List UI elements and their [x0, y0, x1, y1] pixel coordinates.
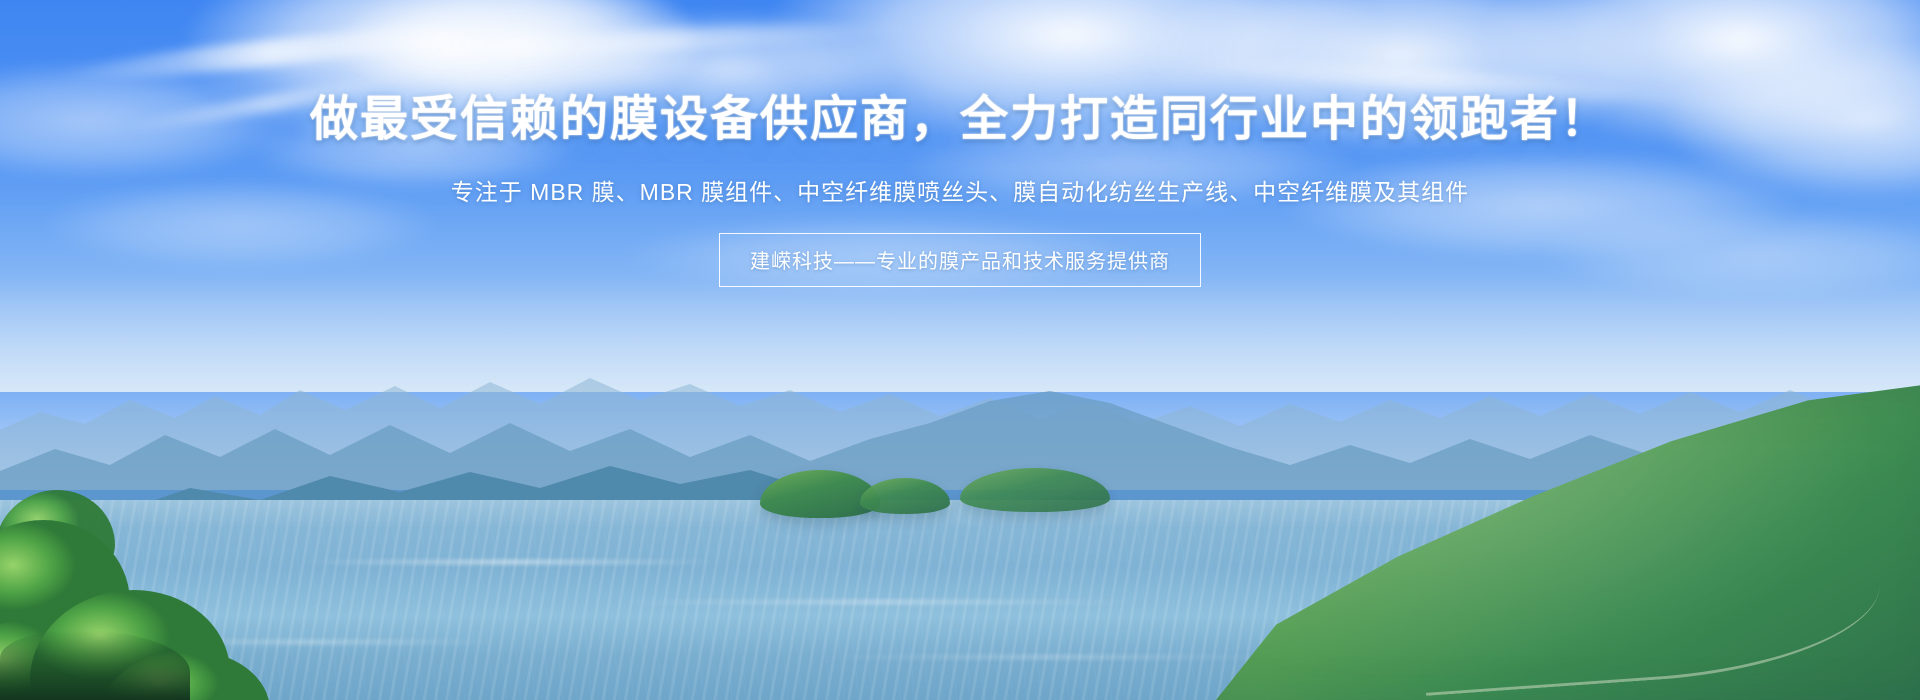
water-glint: [820, 655, 1280, 659]
hero-banner: 做最受信赖的膜设备供应商，全力打造同行业中的领跑者！ 专注于 MBR 膜、MBR…: [0, 0, 1920, 700]
banner-content: 做最受信赖的膜设备供应商，全力打造同行业中的领跑者！ 专注于 MBR 膜、MBR…: [0, 92, 1920, 287]
banner-subheadline: 专注于 MBR 膜、MBR 膜组件、中空纤维膜喷丝头、膜自动化纺丝生产线、中空纤…: [0, 173, 1920, 207]
banner-tagline-box: 建嵘科技——专业的膜产品和技术服务提供商: [719, 233, 1201, 287]
banner-headline: 做最受信赖的膜设备供应商，全力打造同行业中的领跑者！: [0, 92, 1920, 147]
water-glint: [620, 600, 1140, 604]
banner-tagline-wrapper: 建嵘科技——专业的膜产品和技术服务提供商: [0, 233, 1920, 287]
water-glint: [300, 560, 720, 564]
